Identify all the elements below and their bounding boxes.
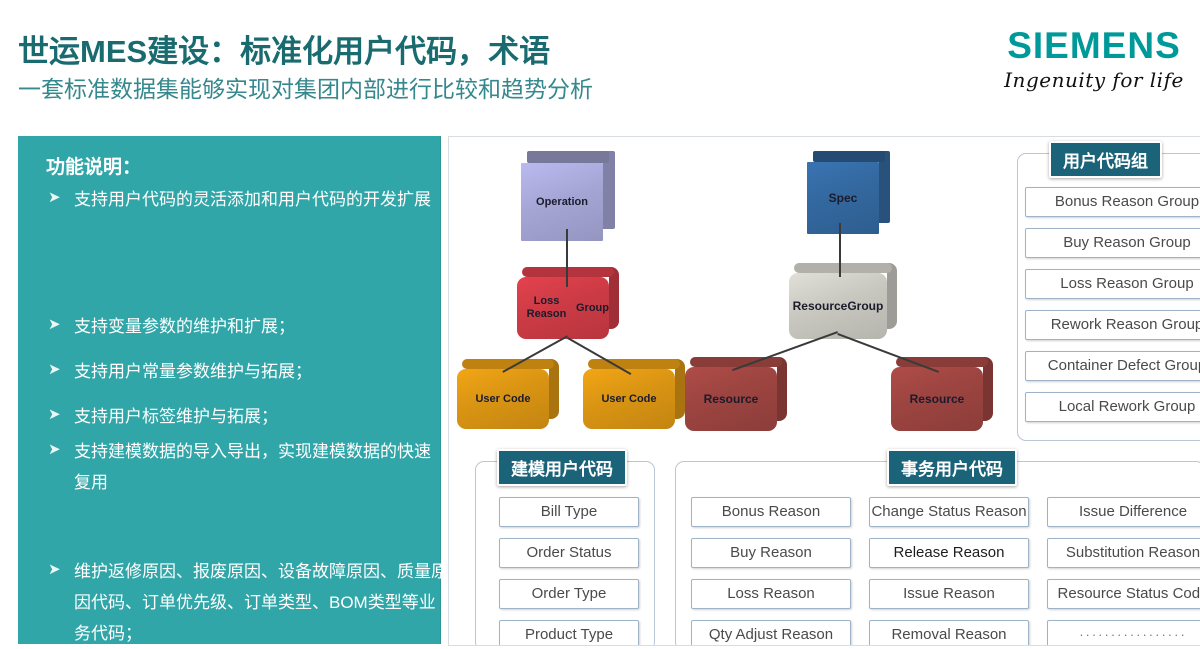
bullet-arrow-icon: ➤ — [48, 556, 74, 582]
list-item[interactable]: Container Defect Group — [1025, 351, 1200, 381]
function-description-panel: 功能说明： ➤支持用户代码的灵活添加和用户代码的开发扩展➤支持变量参数的维护和扩… — [18, 136, 440, 644]
list-item[interactable]: Release Reason — [869, 538, 1029, 568]
list-item[interactable]: ················· — [1047, 620, 1200, 646]
bullet-text: 支持用户代码的灵活添加和用户代码的开发扩展 — [74, 184, 432, 215]
list-item[interactable]: Removal Reason — [869, 620, 1029, 646]
node-label: Resource — [685, 367, 777, 431]
list-item[interactable]: Buy Reason Group — [1025, 228, 1200, 258]
list-item[interactable]: Bill Type — [499, 497, 639, 527]
connector-operation-loss — [566, 229, 568, 287]
slide-header: 世运MES建设：标准化用户代码，术语 一套标准数据集能够实现对集团内部进行比较和… — [0, 0, 1200, 120]
placeholder-dots: ················· — [1079, 627, 1187, 643]
group-header: 建模用户代码 — [497, 449, 627, 486]
list-item[interactable]: Issue Difference — [1047, 497, 1200, 527]
node-top-face — [794, 263, 892, 273]
function-description-title: 功能说明： — [46, 152, 141, 179]
siemens-claim: Ingenuity for life — [994, 68, 1194, 92]
siemens-wordmark: SIEMENS — [994, 26, 1194, 66]
list-item[interactable]: Bonus Reason Group — [1025, 187, 1200, 217]
diagram-node: ResourceGroup — [789, 263, 897, 339]
list-item[interactable]: Order Type — [499, 579, 639, 609]
group-header: 用户代码组 — [1049, 141, 1162, 178]
group-transaction-user-code: 事务用户代码Bonus ReasonBuy ReasonLoss ReasonQ… — [675, 449, 1200, 646]
bullet-item: ➤维护返修原因、报废原因、设备故障原因、质量原因代码、订单优先级、订单类型、BO… — [48, 556, 448, 649]
node-top-face — [588, 359, 680, 369]
diagram-node: Operation — [521, 151, 615, 241]
node-label: ResourceGroup — [789, 273, 887, 339]
bullet-arrow-icon: ➤ — [48, 311, 74, 337]
page-title: 世运MES建设：标准化用户代码，术语 — [18, 26, 550, 71]
node-side-face — [887, 263, 897, 329]
list-item[interactable]: Change Status Reason — [869, 497, 1029, 527]
bullet-text: 支持用户常量参数维护与拓展； — [74, 356, 432, 387]
list-item[interactable]: Product Type — [499, 620, 639, 646]
node-label: Spec — [807, 162, 879, 234]
bullet-item: ➤支持用户标签维护与拓展； — [48, 401, 432, 432]
siemens-logo: SIEMENS Ingenuity for life — [994, 26, 1194, 98]
bullet-item: ➤支持建模数据的导入导出，实现建模数据的快速复用 — [48, 436, 432, 498]
group-user-code-group: 用户代码组Bonus Reason GroupBuy Reason GroupL… — [1017, 141, 1200, 441]
bullet-text: 支持用户标签维护与拓展； — [74, 401, 432, 432]
list-item[interactable]: Substitution Reason — [1047, 538, 1200, 568]
bullet-arrow-icon: ➤ — [48, 401, 74, 427]
bullet-text: 支持变量参数的维护和扩展； — [74, 311, 432, 342]
bullet-text: 支持建模数据的导入导出，实现建模数据的快速复用 — [74, 436, 432, 498]
list-item[interactable]: Issue Reason — [869, 579, 1029, 609]
connector-spec-resourcegroup — [839, 223, 841, 277]
node-label: Operation — [521, 163, 603, 241]
bullet-text: 维护返修原因、报废原因、设备故障原因、质量原因代码、订单优先级、订单类型、BOM… — [74, 556, 448, 649]
diagram-node: Resource — [891, 357, 993, 431]
list-item[interactable]: Resource Status Code — [1047, 579, 1200, 609]
list-item[interactable]: Bonus Reason — [691, 497, 851, 527]
diagram-node: Loss ReasonGroup — [517, 267, 619, 339]
list-item[interactable]: Rework Reason Group — [1025, 310, 1200, 340]
list-item[interactable]: Loss Reason Group — [1025, 269, 1200, 299]
node-label: Loss ReasonGroup — [517, 277, 609, 339]
node-label: Resource — [891, 367, 983, 431]
list-item[interactable]: Loss Reason — [691, 579, 851, 609]
group-modeling-user-code: 建模用户代码Bill TypeOrder StatusOrder TypePro… — [475, 449, 665, 646]
node-top-face — [813, 151, 885, 162]
bullet-arrow-icon: ➤ — [48, 356, 74, 382]
list-item[interactable]: Qty Adjust Reason — [691, 620, 851, 646]
list-item[interactable]: Local Rework Group — [1025, 392, 1200, 422]
bullet-item: ➤支持变量参数的维护和扩展； — [48, 311, 432, 342]
node-top-face — [527, 151, 609, 163]
list-item[interactable]: Order Status — [499, 538, 639, 568]
diagram-panel: OperationLoss ReasonGroupUser CodeUser C… — [448, 136, 1200, 646]
node-label: User Code — [583, 369, 675, 429]
bullet-item: ➤支持用户常量参数维护与拓展； — [48, 356, 432, 387]
group-header: 事务用户代码 — [887, 449, 1017, 486]
node-top-face — [522, 267, 614, 277]
node-top-face — [690, 357, 782, 367]
diagram-node: Spec — [807, 151, 890, 234]
bullet-item: ➤支持用户代码的灵活添加和用户代码的开发扩展 — [48, 184, 432, 215]
page-subtitle: 一套标准数据集能够实现对集团内部进行比较和趋势分析 — [18, 70, 593, 104]
list-item[interactable]: Buy Reason — [691, 538, 851, 568]
diagram-node: User Code — [583, 359, 685, 429]
bullet-arrow-icon: ➤ — [48, 436, 74, 462]
bullet-arrow-icon: ➤ — [48, 184, 74, 210]
node-label: User Code — [457, 369, 549, 429]
